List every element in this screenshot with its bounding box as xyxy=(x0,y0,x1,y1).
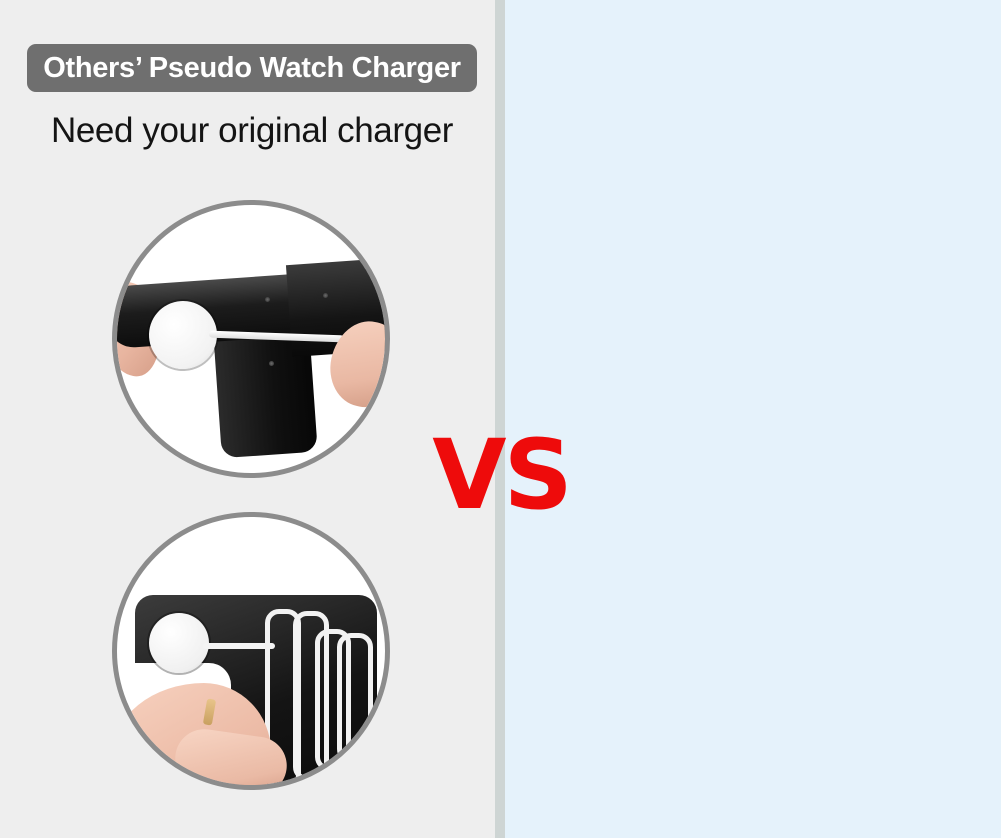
screw-icon xyxy=(265,297,270,302)
left-badge: Others’ Pseudo Watch Charger xyxy=(27,44,477,92)
screw-icon xyxy=(269,361,274,366)
right-comparison-panel: Our built-in Watch Charger Everything re… xyxy=(505,0,1001,838)
photo-hand-holding-stand-with-coiled-cable xyxy=(112,512,390,790)
comparison-infographic: Others’ Pseudo Watch Charger Need your o… xyxy=(0,0,1001,838)
left-subtitle: Need your original charger xyxy=(27,105,477,157)
scene-black-stand-external-puck xyxy=(117,205,385,473)
left-badge-label: Others’ Pseudo Watch Charger xyxy=(43,52,461,85)
cable-loop xyxy=(337,633,373,763)
versus-label: VS xyxy=(421,432,581,518)
screw-icon xyxy=(323,293,328,298)
external-charger-puck xyxy=(149,613,209,673)
left-comparison-panel: Others’ Pseudo Watch Charger Need your o… xyxy=(0,0,495,838)
photo-black-stand-with-external-charger-puck xyxy=(112,200,390,478)
scene-coiled-cable-stand xyxy=(117,517,385,785)
